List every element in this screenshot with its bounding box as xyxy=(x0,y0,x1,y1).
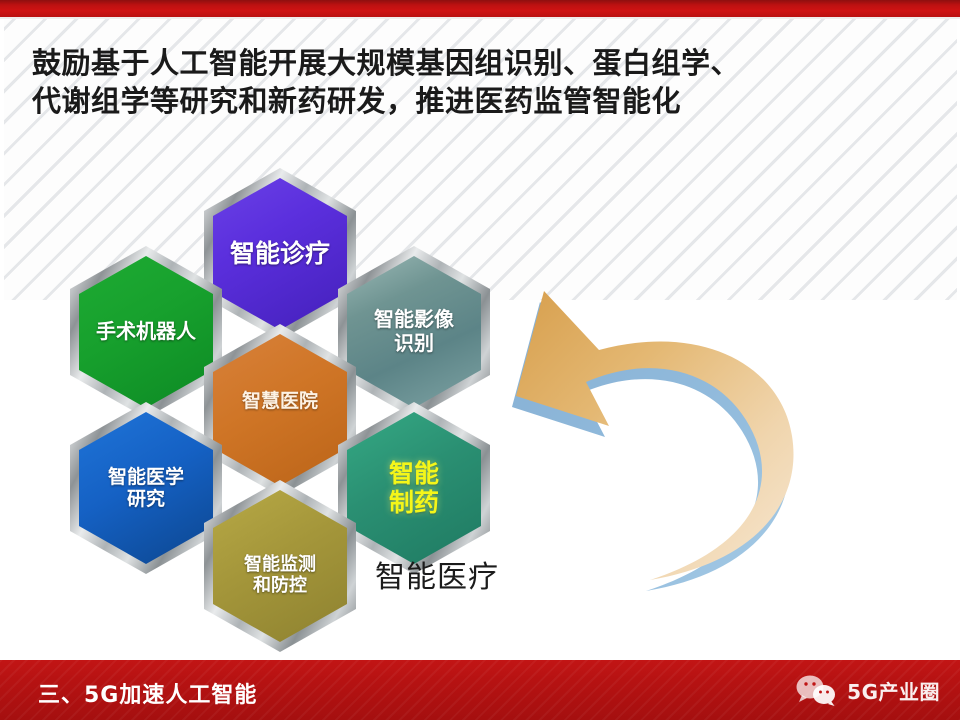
curved-arrow xyxy=(500,250,840,620)
hexagon-shoushu-jiqiren[interactable]: 手术机器人 xyxy=(70,246,222,418)
wechat-icon xyxy=(795,674,839,706)
hexagon-label-line: 智能 xyxy=(389,459,439,489)
watermark-label: 5G产业圈 xyxy=(847,676,940,705)
hexagon-cluster: 智能诊疗 手术机器人 智能影像 识别 xyxy=(60,168,500,618)
hexagon-zhineng-yingxiang[interactable]: 智能影像 识别 xyxy=(338,246,490,418)
hexagon-label-line: 手术机器人 xyxy=(96,320,196,344)
hexagon-label-line: 智能医学 xyxy=(108,466,184,488)
hexagon-label-line: 制药 xyxy=(389,488,439,518)
slide-canvas: 鼓励基于人工智能开展大规模基因组识别、蛋白组学、 代谢组学等研究和新药研发，推进… xyxy=(0,0,960,720)
hexagon-label-line: 研究 xyxy=(108,488,184,510)
footer-section-title: 三、5G加速人工智能 xyxy=(38,677,257,709)
hexagon-zhineng-zhiyao[interactable]: 智能 制药 xyxy=(338,402,490,574)
watermark: 5G产业圈 xyxy=(795,674,940,706)
footer-bar: 三、5G加速人工智能 5G产业圈 xyxy=(0,660,960,720)
title-line-2: 代谢组学等研究和新药研发，推进医药监管智能化 xyxy=(32,82,932,120)
title-line-1: 鼓励基于人工智能开展大规模基因组识别、蛋白组学、 xyxy=(32,44,932,82)
hexagon-label-line: 识别 xyxy=(374,332,454,356)
hexagon-zhihui-yiyuan[interactable]: 智慧医院 xyxy=(204,324,356,496)
hexagon-zhineng-jiance[interactable]: 智能监测 和防控 xyxy=(204,480,356,652)
hexagon-label-line: 智能监测 xyxy=(244,554,316,575)
hexagon-label-line: 智能影像 xyxy=(374,308,454,332)
hexagon-zhineng-yixue[interactable]: 智能医学 研究 xyxy=(70,402,222,574)
hexagon-label-line: 智能诊疗 xyxy=(230,239,330,269)
hexagon-label-line: 和防控 xyxy=(244,575,316,596)
cluster-caption: 智能医疗 xyxy=(375,552,499,596)
page-margin-left xyxy=(0,17,4,660)
curved-arrow-svg xyxy=(500,250,840,620)
hexagon-label-line: 智慧医院 xyxy=(242,390,318,412)
hexagon-zhineng-zhenliao[interactable]: 智能诊疗 xyxy=(204,168,356,340)
top-red-band xyxy=(0,0,960,18)
page-title: 鼓励基于人工智能开展大规模基因组识别、蛋白组学、 代谢组学等研究和新药研发，推进… xyxy=(32,44,932,120)
top-band-edge xyxy=(0,17,960,19)
